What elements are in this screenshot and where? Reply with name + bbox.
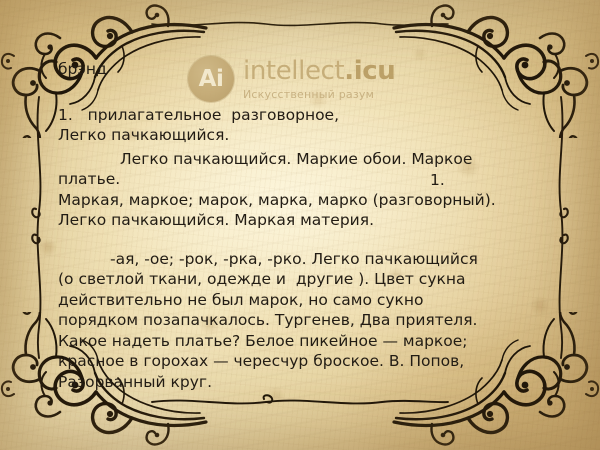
entry-line-10: порядком позапачкалось. Тургенев, Два пр… bbox=[58, 311, 477, 329]
headword: брэнд bbox=[58, 60, 558, 79]
entry-line-6: Легко пачкающийся. Маркая материя. bbox=[58, 211, 374, 229]
entry-paragraph-2: Легко пачкающийся. Маркие обои. Маркоепл… bbox=[58, 149, 558, 231]
border-rule-top bbox=[150, 12, 450, 32]
entry-line-7: -ая, -ое; -рок, -рка, -рко. Легко пачкаю… bbox=[110, 250, 478, 268]
entry-sense-number: 1. bbox=[430, 170, 445, 191]
parchment-page: Ai intellect.icu Искусственный разум брэ… bbox=[0, 0, 600, 450]
entry-paragraph-1: 1. прилагательное разговорное,Легко пачк… bbox=[58, 105, 558, 146]
border-rule-bottom bbox=[150, 394, 450, 414]
entry-line-2: Легко пачкающийся. bbox=[58, 126, 229, 144]
entry-line-1: 1. прилагательное разговорное, bbox=[58, 106, 339, 124]
entry-line-4: платье. bbox=[58, 170, 120, 188]
entry-line-12: красное в горохах — чересчур броское. В.… bbox=[58, 352, 464, 370]
border-rule-left bbox=[30, 95, 48, 364]
entry-line-5: Маркая, маркое; марок, марка, марко (раз… bbox=[58, 191, 496, 209]
entry-line-11: Какое надеть платье? Белое пикейное — ма… bbox=[58, 332, 468, 350]
entry-line-3: Легко пачкающийся. Маркие обои. Маркое bbox=[120, 150, 472, 168]
entry-line-8: (о светлой ткани, одежде и другие ). Цве… bbox=[58, 270, 466, 288]
entry-line-13: Разорванный круг. bbox=[58, 373, 212, 391]
dictionary-entry: брэнд 1. прилагательное разговорное,Легк… bbox=[58, 60, 558, 392]
entry-line-9: действительно не был марок, но само сукн… bbox=[58, 291, 424, 309]
entry-paragraph-3: -ая, -ое; -рок, -рка, -рко. Легко пачкаю… bbox=[58, 249, 558, 393]
entry-line-4-row: платье.1. bbox=[58, 170, 120, 188]
